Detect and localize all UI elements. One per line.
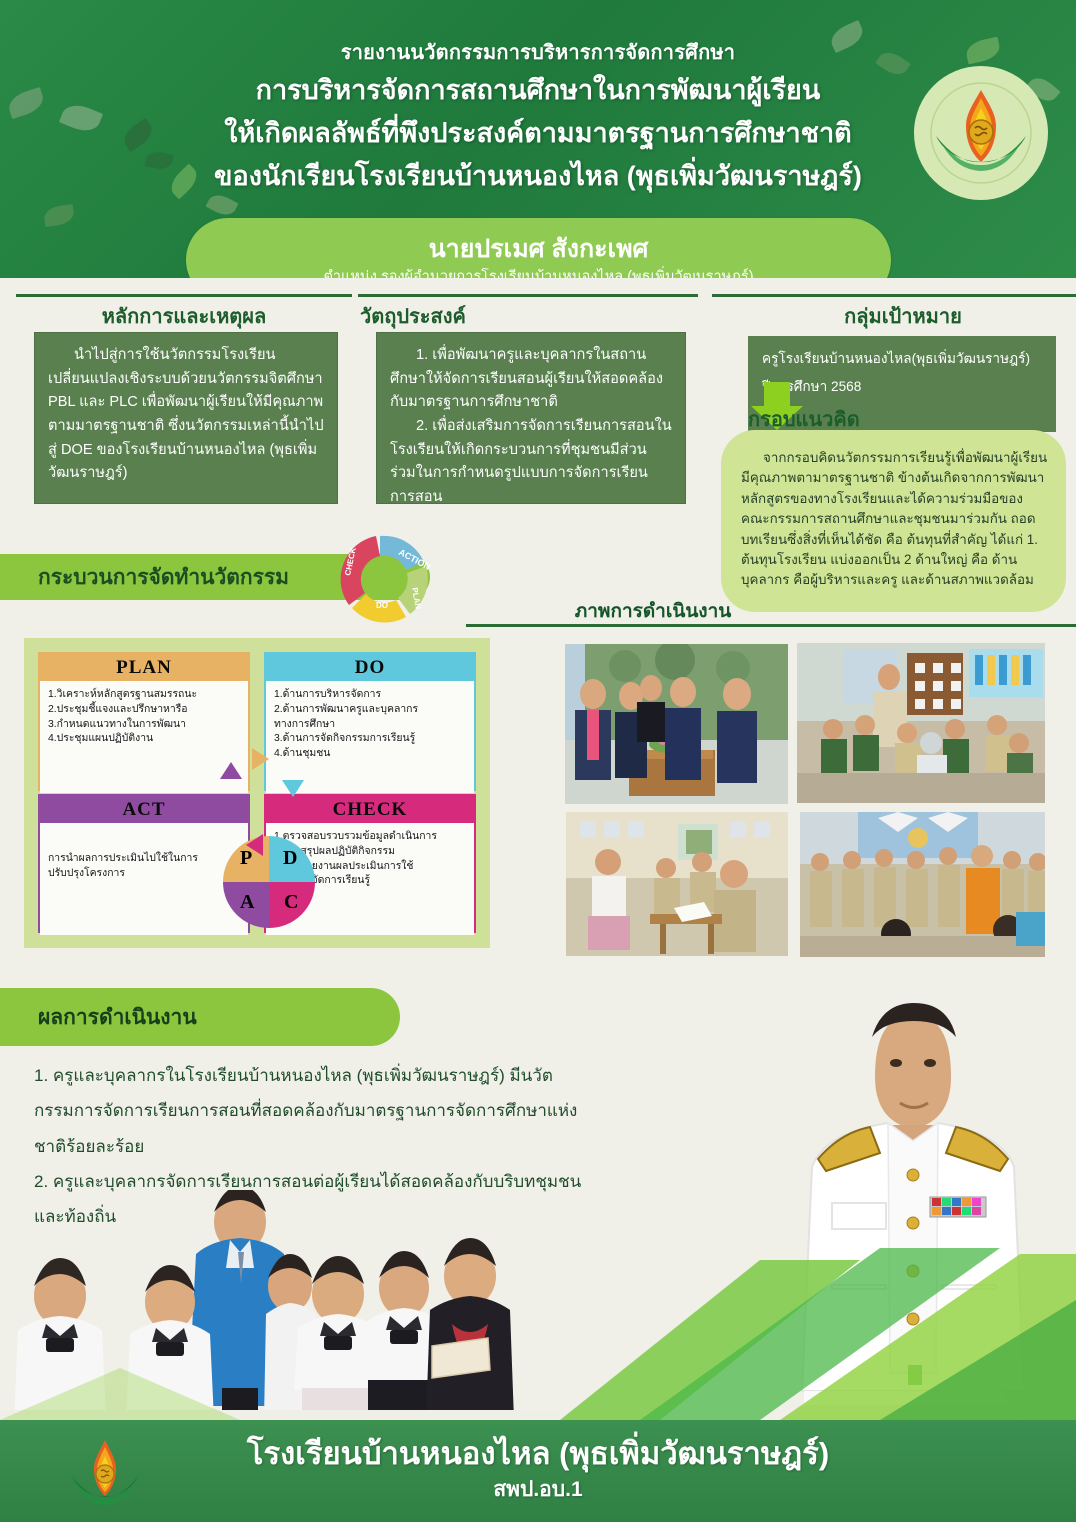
- leaf-decor-icon: [43, 204, 75, 227]
- pdca-act-item: การนำผลการประเมินไปใช้ในการ: [48, 852, 240, 867]
- principles-box: นำไปสู่การใช้นวัตกรรมโรงเรียนเปลี่ยนแปลง…: [34, 332, 338, 504]
- concept-box: จากกรอบคิดนวัตกรรมการเรียนรู้เพื่อพัฒนาผ…: [721, 430, 1066, 612]
- pdca-act-title: ACT: [40, 796, 248, 823]
- author-role: ตำแหน่ง รองผู้อำนวยการโรงเรียนบ้านหนองไห…: [323, 268, 753, 278]
- pdca-do-item: 4.ด้านชุมชน: [274, 747, 466, 762]
- pdca-plan-item: 4.ประชุมแผนปฏิบัติงาน: [48, 732, 240, 747]
- pdca-hub-letter-p: P: [240, 847, 252, 870]
- bottom-swoosh-decor: [0, 1240, 1076, 1420]
- photos-rule: [466, 624, 1076, 627]
- pdca-plan-title: PLAN: [40, 654, 248, 681]
- photo-staff-meeting-outdoor: [565, 644, 788, 804]
- objectives-rule: [358, 294, 698, 297]
- pdca-quadrant-do: DO 1.ด้านการบริหารจัดการ 2.ด้านการพัฒนาค…: [264, 652, 476, 791]
- pdca-act-items: การนำผลการประเมินไปใช้ในการ ปรับปรุงโครง…: [40, 823, 248, 935]
- photo-staff-with-monk: [800, 812, 1045, 957]
- principles-text: นำไปสู่การใช้นวัตกรรมโรงเรียนเปลี่ยนแปลง…: [48, 344, 324, 486]
- objective-item-1: 1. เพื่อพัฒนาครูและบุคลากรในสถานศึกษาให้…: [390, 344, 672, 415]
- ministry-of-education-emblem-icon: [914, 66, 1048, 200]
- result-item-1: 1. ครูและบุคลากรในโรงเรียนบ้านหนองไหล (พ…: [34, 1058, 594, 1164]
- poster-header: รายงานนวัตกรรมการบริหารการจัดการศึกษา กา…: [0, 0, 1076, 278]
- pdca-do-items: 1.ด้านการบริหารจัดการ 2.ด้านการพัฒนาครูแ…: [266, 681, 474, 793]
- concept-heading: กรอบแนวคิด: [748, 403, 860, 435]
- principles-rule: [16, 294, 352, 297]
- pdca-quadrant-act: ACT การนำผลการประเมินไปใช้ในการ ปรับปรุง…: [38, 794, 250, 933]
- photo-teachers-discussion: [566, 812, 788, 956]
- pdca-hub-letter-d: D: [283, 847, 297, 870]
- poster-title-line-3: ของนักเรียนโรงเรียนบ้านหนองไหล (พุธเพิ่ม…: [0, 157, 1076, 197]
- pdca-act-item: ปรับปรุงโครงการ: [48, 867, 240, 882]
- pdca-diagram-panel: PLAN 1.วิเคราะห์หลักสูตรฐานสมรรถนะ 2.ประ…: [24, 638, 490, 948]
- pdca-check-title: CHECK: [266, 796, 474, 823]
- footer-ministry-emblem-icon: [66, 1432, 144, 1510]
- objectives-heading: วัตถุประสงค์: [360, 300, 610, 332]
- pdca-plan-items: 1.วิเคราะห์หลักสูตรฐานสมรรถนะ 2.ประชุมชี…: [40, 681, 248, 793]
- pdca-arrow-plan-to-do: [252, 748, 269, 770]
- objectives-box: 1. เพื่อพัฒนาครูและบุคลากรในสถานศึกษาให้…: [376, 332, 686, 504]
- header-title-block: รายงานนวัตกรรมการบริหารการจัดการศึกษา กา…: [0, 0, 1076, 197]
- pdca-do-title: DO: [266, 654, 474, 681]
- footer-school-name: โรงเรียนบ้านหนองไหล (พุธเพิ่มวัฒนราษฎร์): [247, 1436, 829, 1472]
- pdca-center-hub: P D A C: [223, 836, 315, 928]
- pdca-do-item: 1.ด้านการบริหารจัดการ: [274, 688, 466, 703]
- target-group-heading: กลุ่มเป้าหมาย: [748, 300, 1058, 332]
- poster-footer: โรงเรียนบ้านหนองไหล (พุธเพิ่มวัฒนราษฎร์)…: [0, 1420, 1076, 1522]
- results-banner-label: ผลการดำเนินงาน: [0, 1001, 197, 1034]
- target-group-rule: [712, 294, 1076, 297]
- poster-root: รายงานนวัตกรรมการบริหารการจัดการศึกษา กา…: [0, 0, 1076, 1522]
- report-label: รายงานนวัตกรรมการบริหารการจัดการศึกษา: [0, 38, 1076, 68]
- pdca-arrow-do-to-check: [282, 780, 304, 797]
- target-group-text: ครูโรงเรียนบ้านหนองไหล(พุธเพิ่มวัฒนราษฎร…: [762, 351, 1030, 394]
- photo-classroom-teaching: [797, 643, 1045, 803]
- pdca-hub-letter-a: A: [240, 891, 254, 914]
- pdca-quadrant-plan: PLAN 1.วิเคราะห์หลักสูตรฐานสมรรถนะ 2.ประ…: [38, 652, 250, 791]
- photos-heading: ภาพการดำเนินงาน: [528, 596, 778, 626]
- pdca-do-item: 3.ด้านการจัดกิจกรรมการเรียนรู้: [274, 732, 466, 747]
- poster-title-line-1: การบริหารจัดการสถานศึกษาในการพัฒนาผู้เรี…: [0, 71, 1076, 111]
- process-banner-label: กระบวนการจัดทำนวัตกรรม: [0, 561, 289, 594]
- principles-heading: หลักการและเหตุผล: [34, 300, 334, 332]
- pdca-do-item: 2.ด้านการพัฒนาครูและบุคลากร: [274, 703, 466, 718]
- pdca-do-item: ทางการศึกษา: [274, 718, 466, 733]
- footer-area-office: สพป.อบ.1: [247, 1473, 829, 1506]
- svg-text:DO: DO: [376, 601, 388, 610]
- pdca-plan-item: 1.วิเคราะห์หลักสูตรฐานสมรรถนะ: [48, 688, 240, 703]
- pdca-plan-item: 2.ประชุมชี้แจงและปรึกษาหารือ: [48, 703, 240, 718]
- pdca-plan-item: 3.กำหนดแนวทางในการพัฒนา: [48, 718, 240, 733]
- results-banner: ผลการดำเนินงาน: [0, 988, 400, 1046]
- author-name: นายปรเมศ สังกะเพศ: [429, 234, 649, 264]
- concept-text: จากกรอบคิดนวัตกรรมการเรียนรู้เพื่อพัฒนาผ…: [741, 448, 1048, 591]
- footer-text-block: โรงเรียนบ้านหนองไหล (พุธเพิ่มวัฒนราษฎร์)…: [247, 1436, 829, 1507]
- author-pill: นายปรเมศ สังกะเพศ ตำแหน่ง รองผู้อำนวยการ…: [186, 218, 891, 278]
- pdca-cycle-wheel-icon: ACTION PLAN DO CHECK: [318, 528, 450, 632]
- objective-item-2: 2. เพื่อส่งเสริมการจัดการเรียนการสอนในโร…: [390, 415, 672, 510]
- pdca-hub-letter-c: C: [284, 891, 298, 914]
- pdca-arrow-act-to-plan: [220, 762, 242, 779]
